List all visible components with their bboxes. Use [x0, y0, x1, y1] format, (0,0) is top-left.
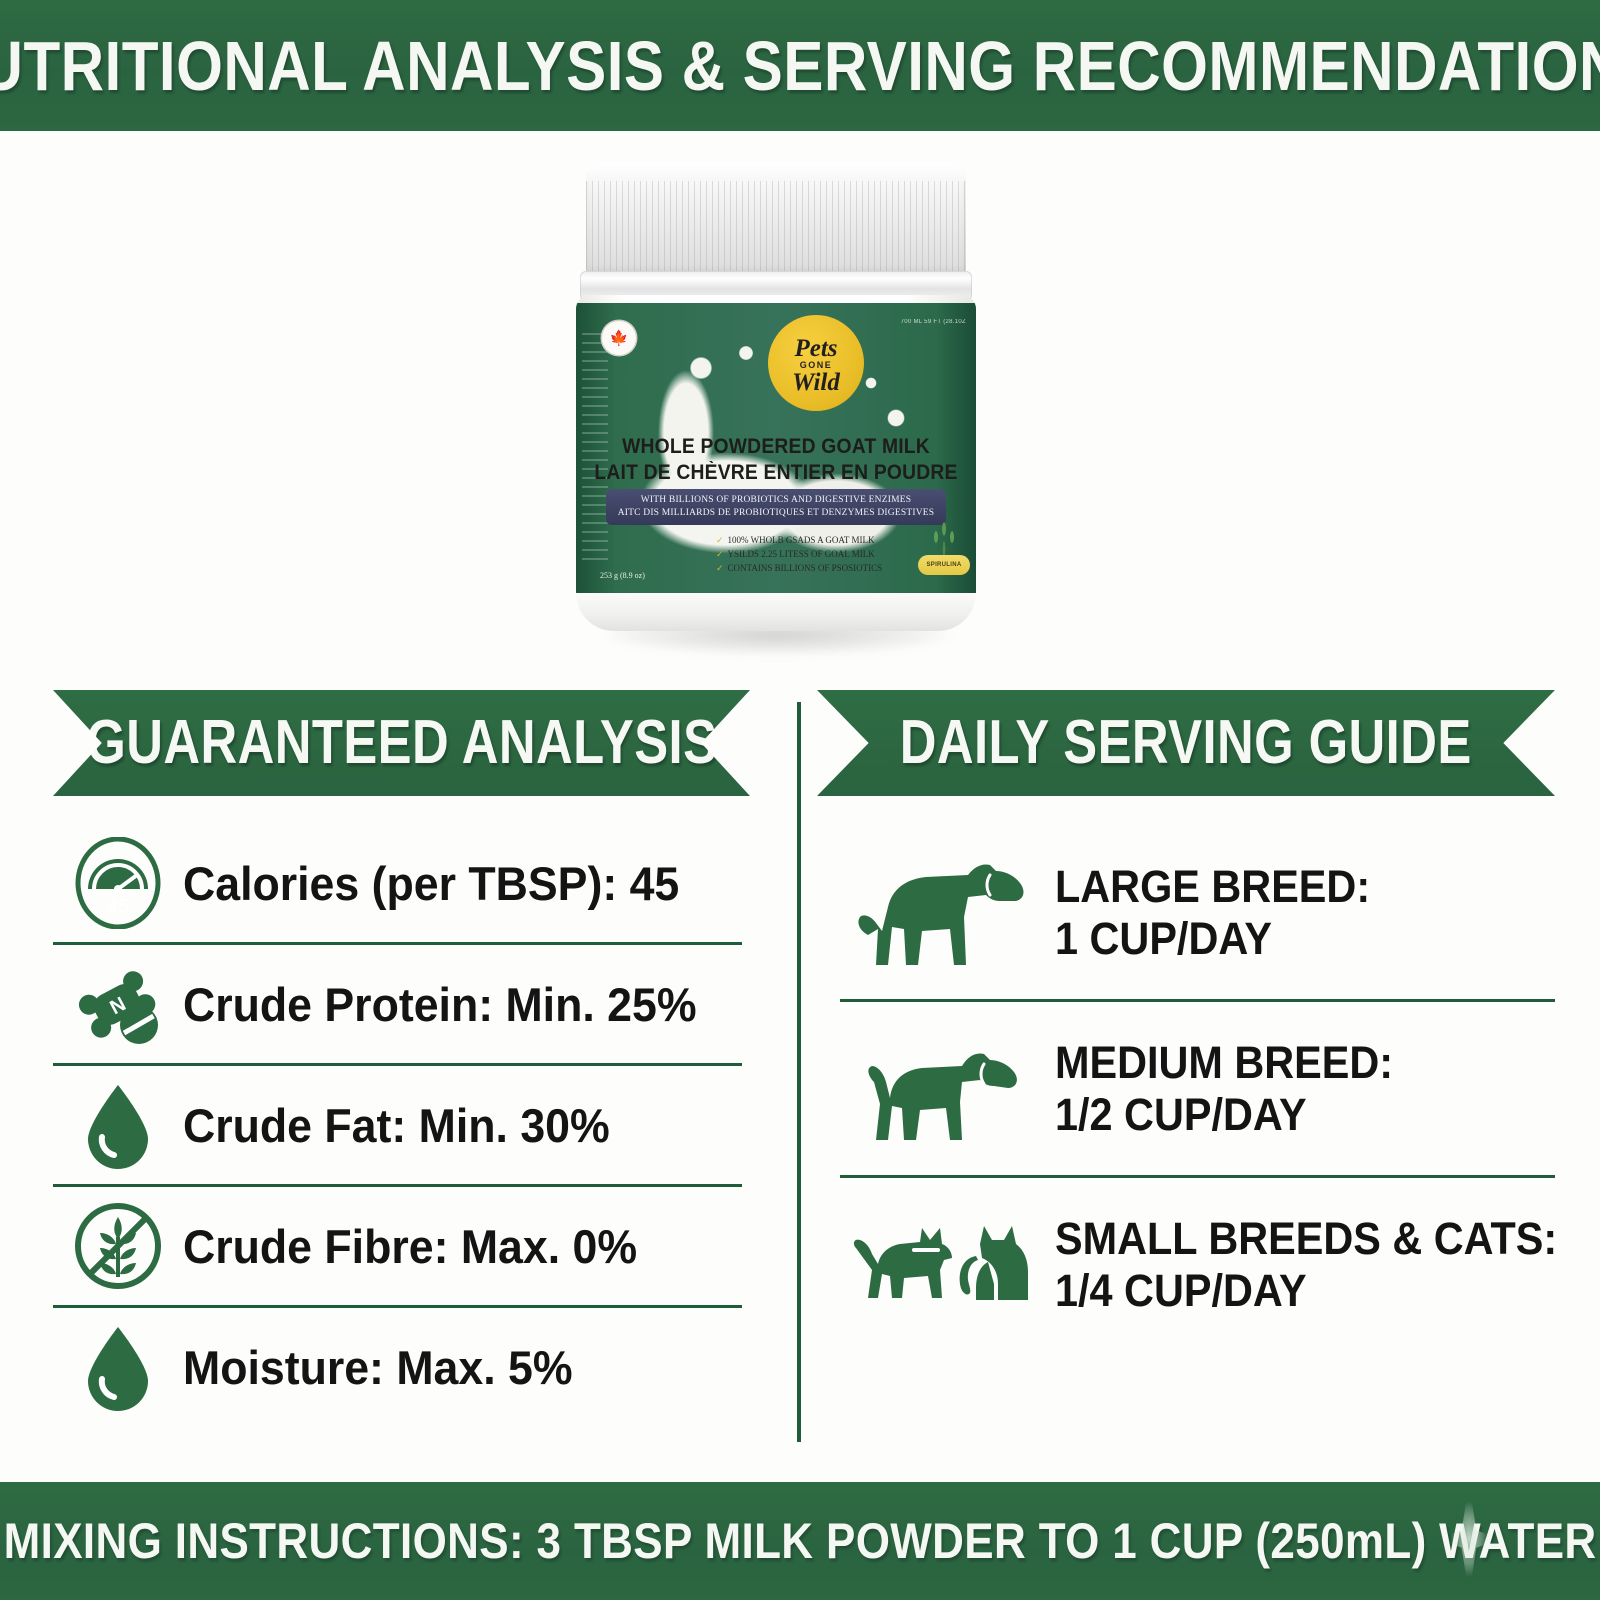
brand-name-pets: Pets [794, 337, 837, 361]
label-bullet-text: CONTAINS BILLIONS OF PSOSIOTICS [728, 563, 883, 573]
label-title-french: LAIT DE CHÈVRE ENTIER EN POUDRE [592, 461, 960, 485]
daily-serving-guide-banner: DAILY SERVING GUIDE [817, 690, 1555, 796]
guaranteed-analysis-panel: GUARANTEED ANALYSIS 45 Calories (per TBS… [0, 690, 795, 1452]
content-panels: GUARANTEED ANALYSIS 45 Calories (per TBS… [0, 690, 1600, 1452]
label-subtitle-band: WITH BILLIONS OF PROBIOTICS AND DIGESTIV… [606, 489, 946, 525]
analysis-row: Crude Fibre: Max. 0% [53, 1187, 742, 1308]
maple-leaf-glyph: 🍁 [610, 331, 629, 346]
page-header: NUTRITIONAL ANALYSIS & SERVING RECOMMEND… [0, 0, 1600, 131]
label-bullet-item: ✓YSILDS 2.25 LITESS OF GOAL MILK [716, 549, 882, 560]
moisture-droplet-icon [53, 1321, 183, 1413]
analysis-row-label: Moisture: Max. 5% [183, 1340, 573, 1395]
serving-row-text: LARGE BREED: 1 CUP/DAY [1055, 861, 1370, 964]
calorie-gauge-icon: 45 [53, 837, 183, 929]
guaranteed-analysis-title: GUARANTEED ANALYSIS [86, 712, 717, 774]
fat-droplet-icon [53, 1079, 183, 1171]
check-icon: ✓ [716, 563, 724, 573]
serving-row: SMALL BREEDS & CATS: 1/4 CUP/DAY [840, 1178, 1555, 1351]
label-subtitle-french: AITC DIS MILLIARDS DE PROBIOTIQUES ET DE… [618, 507, 935, 520]
jar-body: 🍁 700 ML 59 FT (28.10Z Pets GONE Wild WH… [576, 295, 976, 625]
label-bullet-list: ✓100% WHOLB GSADS A GOAT MILK ✓YSILDS 2.… [716, 535, 882, 574]
serving-row-line2: 1/2 CUP/DAY [1055, 1089, 1393, 1140]
product-label: 🍁 700 ML 59 FT (28.10Z Pets GONE Wild WH… [576, 303, 976, 593]
panel-divider [797, 702, 801, 1442]
page-title: NUTRITIONAL ANALYSIS & SERVING RECOMMEND… [0, 31, 1600, 101]
label-net-weight-top: 700 ML 59 FT (28.10Z [901, 319, 966, 325]
large-dog-icon [840, 843, 1055, 983]
small-dog-and-cat-icon [840, 1200, 1055, 1330]
label-title-english: WHOLE POWDERED GOAT MILK [592, 435, 960, 459]
grain-free-icon [53, 1199, 183, 1293]
analysis-row: Moisture: Max. 5% [53, 1308, 742, 1426]
jar-lid [586, 163, 966, 275]
sparkle-icon [1438, 1484, 1500, 1594]
protein-icon: N [53, 958, 183, 1050]
label-bullet-item: ✓100% WHOLB GSADS A GOAT MILK [716, 535, 882, 546]
analysis-row: 45 Calories (per TBSP): 45 [53, 824, 742, 945]
product-jar: 🍁 700 ML 59 FT (28.10Z Pets GONE Wild WH… [566, 163, 986, 668]
serving-list: LARGE BREED: 1 CUP/DAY MEDIUM BREED: 1/2… [840, 826, 1555, 1351]
serving-row-line1: LARGE BREED: [1055, 861, 1370, 912]
check-icon: ✓ [716, 549, 724, 559]
label-subtitle-english: WITH BILLIONS OF PROBIOTICS AND DIGESTIV… [641, 494, 912, 507]
analysis-list: 45 Calories (per TBSP): 45 N [53, 824, 742, 1426]
daily-serving-guide-title: DAILY SERVING GUIDE [900, 712, 1472, 774]
serving-row-line1: SMALL BREEDS & CATS: [1055, 1213, 1557, 1264]
label-bullet-text: YSILDS 2.25 LITESS OF GOAL MILK [728, 549, 875, 559]
brand-name-wild: Wild [792, 370, 840, 395]
analysis-row-label: Calories (per TBSP): 45 [183, 856, 679, 911]
serving-row: MEDIUM BREED: 1/2 CUP/DAY [840, 1002, 1555, 1178]
serving-row-text: SMALL BREEDS & CATS: 1/4 CUP/DAY [1055, 1213, 1557, 1316]
label-bullet-text: 100% WHOLB GSADS A GOAT MILK [728, 535, 875, 545]
serving-row: LARGE BREED: 1 CUP/DAY [840, 826, 1555, 1002]
brand-logo: Pets GONE Wild [768, 315, 864, 411]
analysis-row: Crude Fat: Min. 30% [53, 1066, 742, 1187]
check-icon: ✓ [716, 535, 724, 545]
maple-leaf-icon: 🍁 [602, 321, 636, 355]
jar-base [576, 593, 976, 631]
product-image-area: 🍁 700 ML 59 FT (28.10Z Pets GONE Wild WH… [0, 131, 1600, 691]
daily-serving-guide-panel: DAILY SERVING GUIDE LARGE BREED: 1 CUP/D… [805, 690, 1600, 1452]
page-footer: MIXING INSTRUCTIONS: 3 TBSP MILK POWDER … [0, 1482, 1600, 1600]
mixing-instructions-text: MIXING INSTRUCTIONS: 3 TBSP MILK POWDER … [4, 1512, 1597, 1570]
label-net-weight: 253 g (8.9 oz) [600, 571, 645, 580]
spirulina-tag: SPIRULINA [918, 555, 970, 575]
medium-dog-icon [840, 1024, 1055, 1154]
serving-row-line1: MEDIUM BREED: [1055, 1037, 1393, 1088]
guaranteed-analysis-banner: GUARANTEED ANALYSIS [53, 690, 750, 796]
analysis-row-label: Crude Fat: Min. 30% [183, 1098, 610, 1153]
label-bullet-item: ✓CONTAINS BILLIONS OF PSOSIOTICS [716, 563, 882, 574]
analysis-row-label: Crude Fibre: Max. 0% [183, 1219, 637, 1274]
svg-text:45: 45 [107, 896, 129, 918]
serving-row-text: MEDIUM BREED: 1/2 CUP/DAY [1055, 1037, 1393, 1140]
analysis-row-label: Crude Protein: Min. 25% [183, 977, 697, 1032]
analysis-row: N Crude Protein: Min. 25% [53, 945, 742, 1066]
serving-row-line2: 1/4 CUP/DAY [1055, 1265, 1557, 1316]
serving-row-line2: 1 CUP/DAY [1055, 913, 1370, 964]
